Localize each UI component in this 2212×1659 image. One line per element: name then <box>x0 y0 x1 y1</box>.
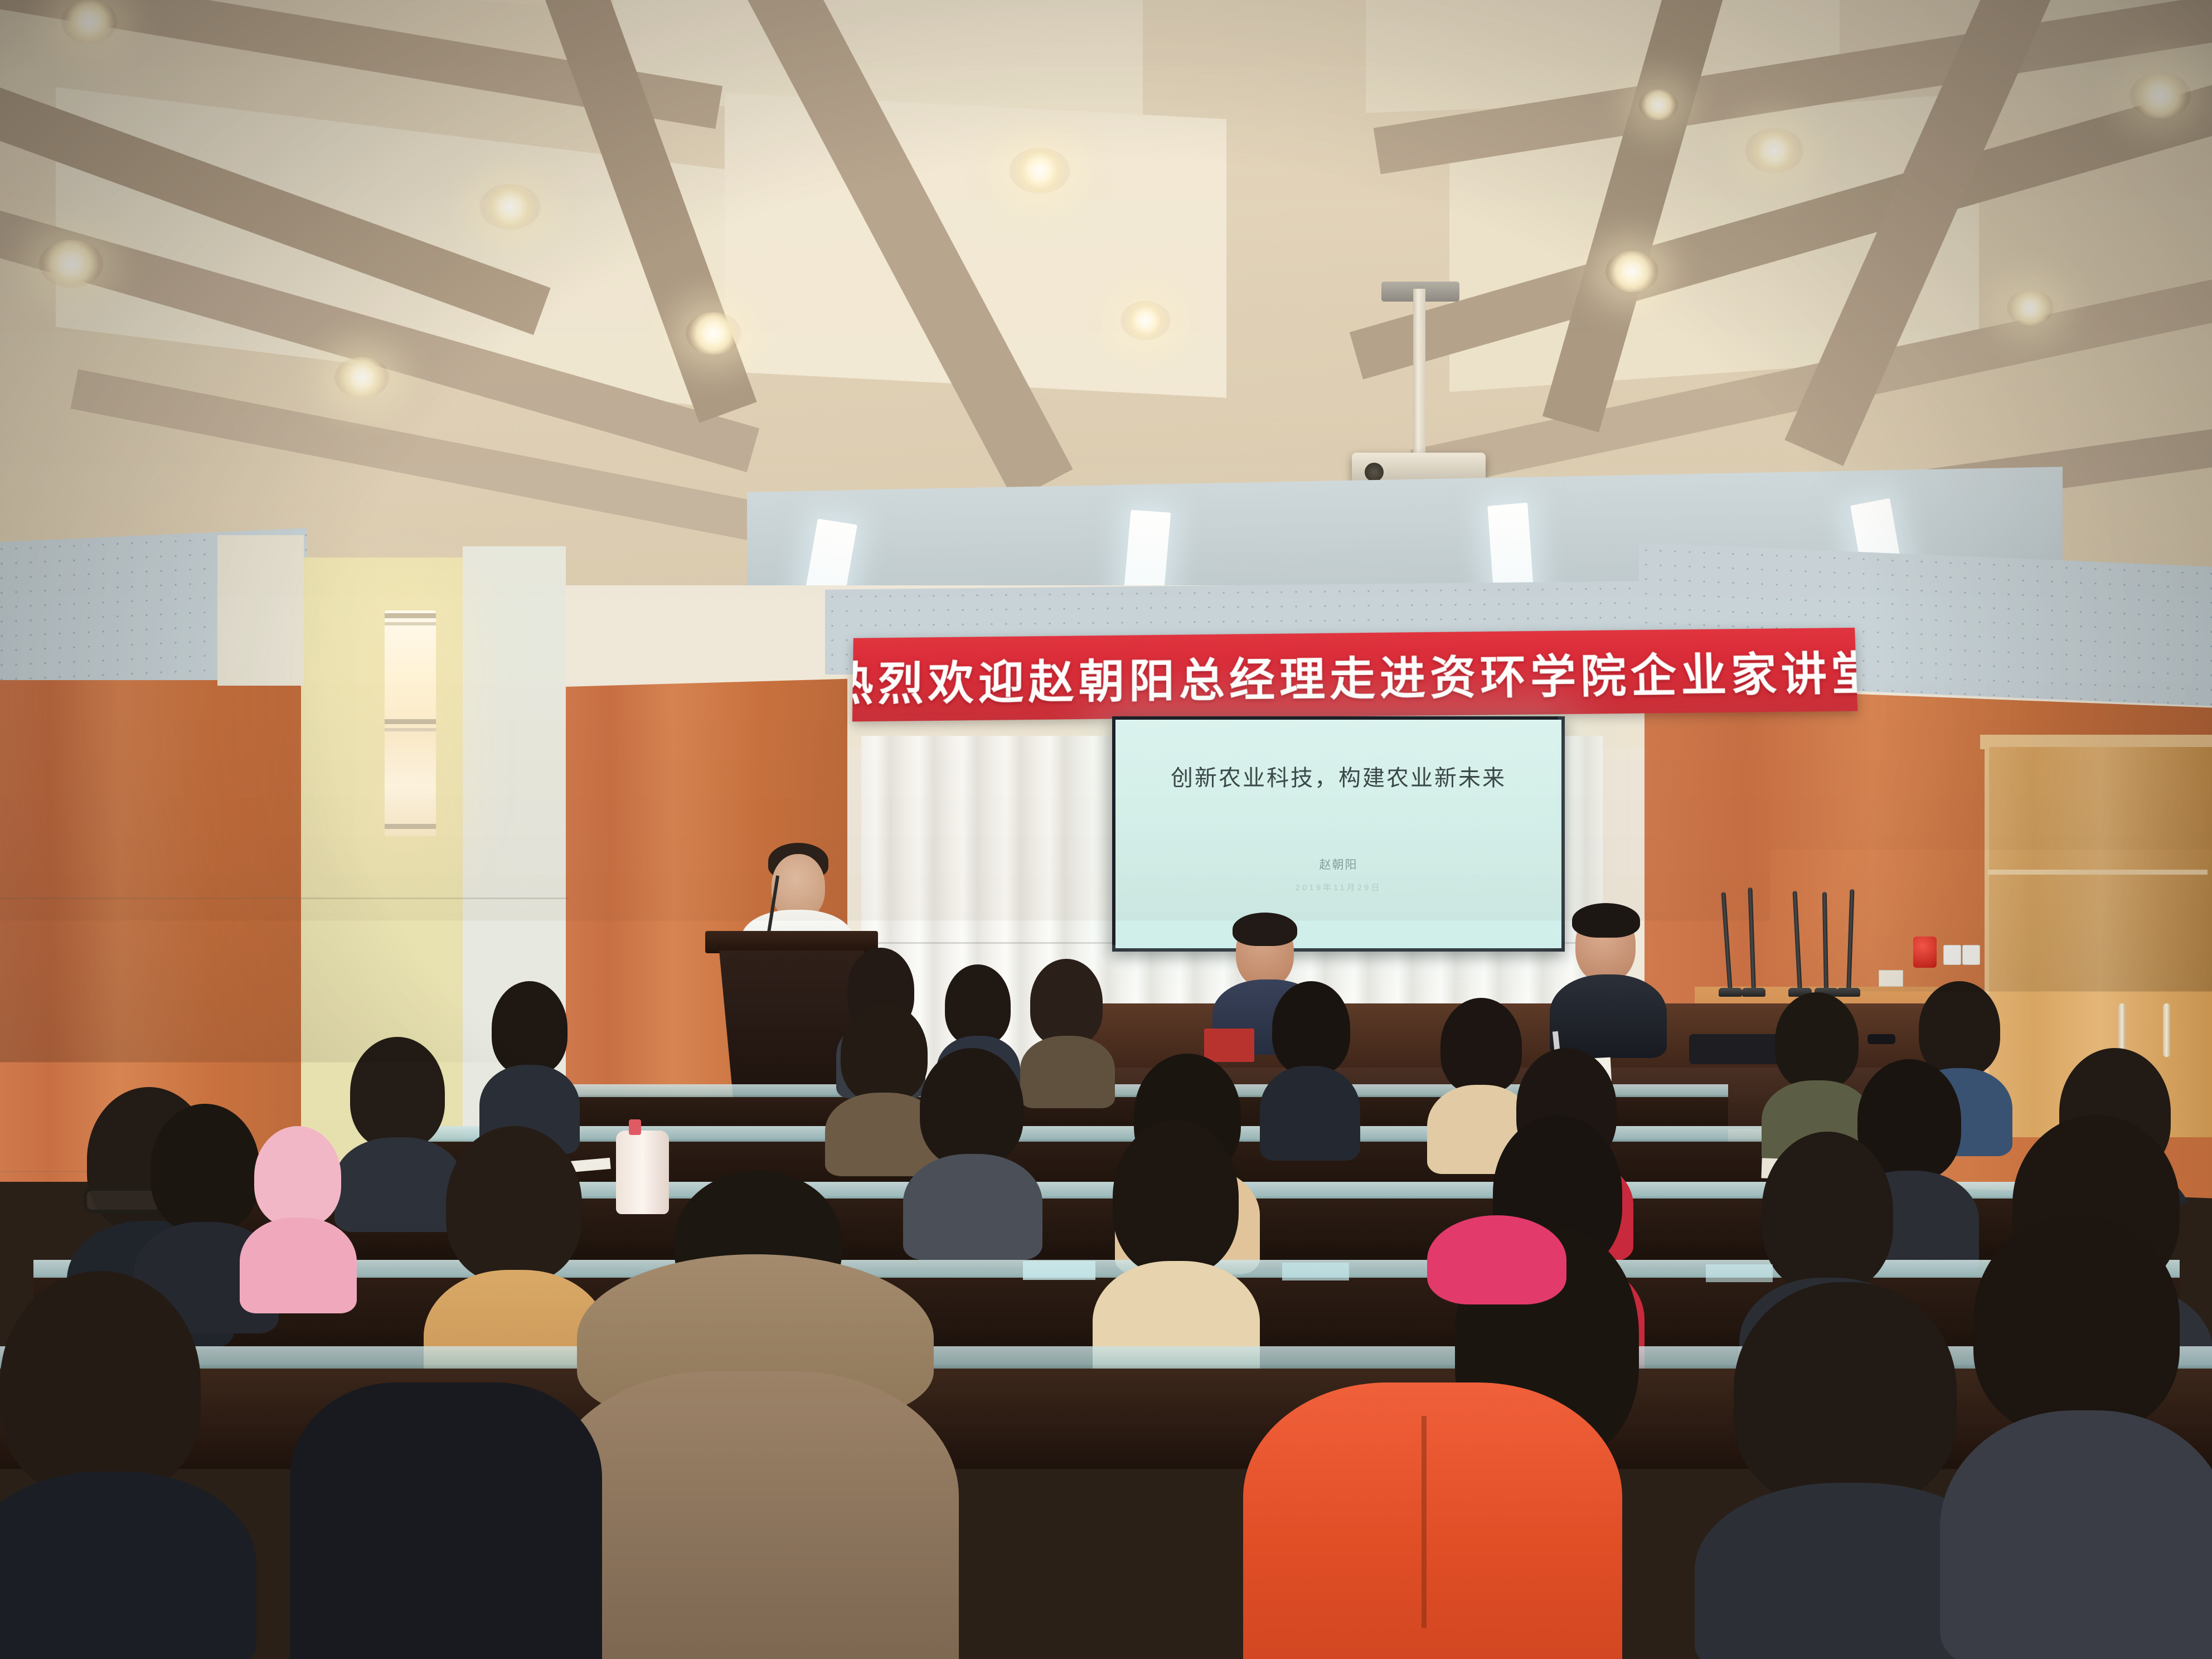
hair <box>1734 1282 1957 1505</box>
hair <box>1233 913 1297 946</box>
projection-screen-frame: 创新农业科技，构建农业新未来 赵朝阳 2019年11月29日 <box>1112 716 1565 952</box>
hair <box>0 1271 201 1494</box>
foreground-person-lower-left <box>290 1382 602 1659</box>
downlight <box>1120 301 1171 340</box>
foreground-person-orange-jacket <box>1243 1249 1622 1659</box>
sconce-band-icon <box>385 622 436 625</box>
torso <box>1940 1410 2212 1659</box>
downlight <box>61 0 117 43</box>
torso <box>290 1382 602 1659</box>
audience-person <box>1093 1120 1260 1382</box>
torso-pink-jacket <box>240 1217 357 1313</box>
torso-orange-jacket <box>1243 1382 1622 1659</box>
downlight <box>686 312 741 355</box>
jacket-zipper <box>1422 1416 1427 1628</box>
sconce-band-icon <box>385 824 436 829</box>
light-switch[interactable] <box>1962 945 1980 965</box>
hair <box>1762 1132 1893 1291</box>
slide-author: 赵朝阳 <box>1115 856 1561 872</box>
downlight <box>334 357 389 398</box>
foreground-person-far-right <box>1940 1215 2212 1659</box>
projector-lens-icon <box>1365 463 1384 482</box>
hair <box>1113 1120 1239 1274</box>
torso <box>0 1472 256 1659</box>
projector-pole <box>1413 289 1425 456</box>
downlight <box>1605 251 1658 292</box>
wall-seam <box>0 898 569 899</box>
torso <box>1550 974 1667 1058</box>
fire-alarm-icon <box>1913 937 1937 968</box>
projection-screen: 创新农业科技，构建农业新未来 赵朝阳 2019年11月29日 <box>1115 720 1561 948</box>
lecture-hall-photo: 热烈欢迎赵朝阳总经理走进资环学院企业家讲堂 创新农业科技，构建农业新未来 赵朝阳… <box>0 0 2212 1659</box>
foreground-person-left <box>0 1271 256 1659</box>
hair <box>920 1048 1023 1166</box>
downlight <box>39 240 103 288</box>
slide-date: 2019年11月29日 <box>1115 881 1561 893</box>
seated-man-right <box>1550 909 1667 1054</box>
hair <box>1272 981 1350 1075</box>
torso-tan-puffer-coat <box>546 1371 959 1659</box>
hair <box>1973 1215 2180 1433</box>
torso <box>1260 1066 1360 1161</box>
hair <box>1030 959 1103 1045</box>
desk-reflection <box>1706 1264 1773 1282</box>
sconce-band-icon <box>385 728 436 731</box>
audience-person <box>479 981 580 1148</box>
welcome-banner: 热烈欢迎赵朝阳总经理走进资环学院企业家讲堂 <box>852 628 1858 721</box>
light-switch[interactable] <box>1943 945 1961 965</box>
wall-jack-plate <box>1879 970 1903 987</box>
desk-reflection <box>1023 1261 1095 1280</box>
hair <box>945 964 1011 1045</box>
door-rail <box>1988 870 2208 875</box>
hair <box>1572 903 1640 938</box>
audience-person <box>1260 981 1360 1154</box>
downlight <box>1009 148 1070 193</box>
downlight <box>479 184 541 230</box>
hair <box>492 981 567 1075</box>
audience-child <box>240 1126 357 1310</box>
downlight <box>1745 128 1803 173</box>
slide-title: 创新农业科技，构建农业新未来 <box>1115 760 1561 792</box>
downlight <box>2007 290 2054 326</box>
sconce-band-icon <box>385 613 436 618</box>
pink-hairband <box>1427 1215 1566 1304</box>
sconce-band-icon <box>385 719 436 724</box>
foreground-person-tan-coat <box>546 1187 959 1659</box>
wall-column-pale <box>217 535 304 686</box>
pink-hood <box>254 1126 341 1226</box>
microphone-base <box>1719 988 1742 997</box>
downlight <box>1639 89 1678 120</box>
eyeglasses-icon <box>1867 1034 1895 1044</box>
welcome-banner-text: 热烈欢迎赵朝阳总经理走进资环学院企业家讲堂 <box>852 636 1858 713</box>
bottle-cap-icon <box>629 1119 641 1135</box>
downlight <box>2129 72 2191 118</box>
